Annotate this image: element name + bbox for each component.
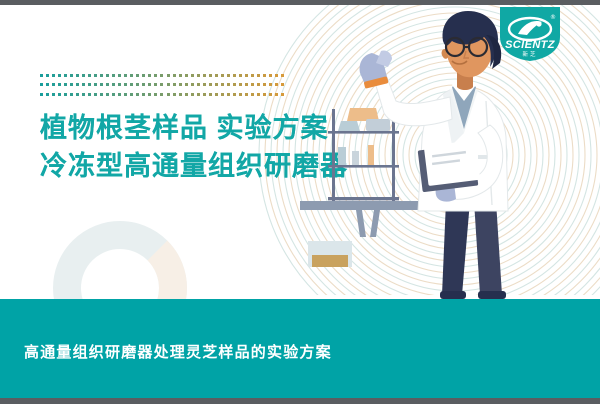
poster-slide: 植物根茎样品 实验方案 冷冻型高通量组织研磨器	[0, 0, 600, 404]
grid-dot	[257, 93, 260, 96]
grid-dot	[221, 74, 224, 77]
grid-dot	[197, 83, 200, 86]
grid-dot	[124, 83, 127, 86]
grid-dot	[233, 93, 236, 96]
grid-dot	[124, 74, 127, 77]
grid-dot	[88, 74, 91, 77]
grid-dot	[245, 83, 248, 86]
grid-dot	[94, 93, 97, 96]
grid-dot	[251, 74, 254, 77]
grid-dot	[88, 83, 91, 86]
grid-dot	[251, 83, 254, 86]
clipboard-icon	[418, 140, 481, 192]
grid-dot	[106, 93, 109, 96]
grid-dot	[76, 93, 79, 96]
grid-dot	[239, 74, 242, 77]
grid-dot	[203, 93, 206, 96]
logo-wordmark-cn: 新芝	[522, 50, 537, 58]
grid-dot	[197, 93, 200, 96]
grid-dot	[269, 83, 272, 86]
grid-dot	[82, 93, 85, 96]
grid-dot	[112, 83, 115, 86]
grid-dot	[148, 83, 151, 86]
grid-dot	[70, 74, 73, 77]
grid-dot	[64, 93, 67, 96]
grid-dot	[136, 93, 139, 96]
grid-dot	[281, 93, 284, 96]
grid-dot	[221, 93, 224, 96]
grid-dot	[160, 83, 163, 86]
grid-dot	[179, 83, 182, 86]
grid-dot	[263, 93, 266, 96]
grid-dot	[106, 74, 109, 77]
grid-dot	[88, 93, 91, 96]
grid-dot	[167, 93, 170, 96]
grid-dot	[52, 83, 55, 86]
grid-dot	[209, 74, 212, 77]
grid-dot	[130, 83, 133, 86]
grid-dot	[40, 93, 43, 96]
grid-dot	[173, 74, 176, 77]
scientist-figure	[360, 11, 508, 299]
grid-dot	[130, 93, 133, 96]
grid-dot	[100, 93, 103, 96]
grid-dot	[275, 74, 278, 77]
grid-dot	[136, 74, 139, 77]
grid-dot	[118, 83, 121, 86]
grid-dot	[64, 74, 67, 77]
bottom-chrome-bar	[0, 398, 600, 404]
grid-dot	[263, 74, 266, 77]
grid-dot	[136, 83, 139, 86]
grid-dot	[154, 83, 157, 86]
grid-dot	[215, 74, 218, 77]
grid-dot	[52, 93, 55, 96]
grid-dot	[112, 93, 115, 96]
grid-dot	[154, 74, 157, 77]
grid-dot	[148, 93, 151, 96]
grid-dot	[185, 74, 188, 77]
grid-dot	[154, 93, 157, 96]
grid-dot	[112, 74, 115, 77]
grid-dot	[281, 83, 284, 86]
grid-dot	[245, 74, 248, 77]
grid-dot	[76, 74, 79, 77]
grid-dot	[64, 83, 67, 86]
grid-dot	[275, 93, 278, 96]
grid-dot	[191, 74, 194, 77]
grid-dot	[100, 74, 103, 77]
grid-dot	[185, 83, 188, 86]
trademark-icon: ®	[550, 14, 556, 21]
grid-dot	[239, 83, 242, 86]
grid-dot	[160, 74, 163, 77]
grid-dot	[142, 83, 145, 86]
logo-wordmark: SCIENTZ	[505, 39, 556, 51]
grid-dot	[257, 74, 260, 77]
scientz-logo[interactable]: SCIENTZ 新芝 ®	[498, 7, 562, 61]
grid-dot	[257, 83, 260, 86]
grid-dot	[221, 83, 224, 86]
grid-dot	[245, 93, 248, 96]
grid-dot	[167, 83, 170, 86]
grid-dot	[106, 83, 109, 86]
grid-dot	[40, 74, 43, 77]
grid-dot	[160, 93, 163, 96]
grid-dot	[227, 74, 230, 77]
grid-dot	[215, 93, 218, 96]
poster-canvas: 植物根茎样品 实验方案 冷冻型高通量组织研磨器	[0, 5, 600, 398]
grid-dot	[209, 93, 212, 96]
grid-dot	[100, 83, 103, 86]
grid-dot	[173, 93, 176, 96]
grid-dot	[251, 93, 254, 96]
grid-dot	[167, 74, 170, 77]
grid-dot	[191, 83, 194, 86]
grid-dot	[203, 74, 206, 77]
caption-text: 高通量组织研磨器处理灵芝样品的实验方案	[24, 341, 332, 362]
grid-dot	[269, 74, 272, 77]
grid-dot	[76, 83, 79, 86]
grid-dot	[46, 93, 49, 96]
grid-dot	[227, 93, 230, 96]
grid-dot	[118, 74, 121, 77]
grid-dot	[227, 83, 230, 86]
grid-dot	[52, 74, 55, 77]
grid-dot	[70, 83, 73, 86]
grid-dot	[148, 74, 151, 77]
grid-dot	[191, 93, 194, 96]
grid-dot	[46, 74, 49, 77]
grid-dot	[185, 93, 188, 96]
grid-dot	[263, 83, 266, 86]
grid-dot	[58, 74, 61, 77]
grid-dot	[70, 93, 73, 96]
grid-dot	[82, 74, 85, 77]
grid-dot	[94, 74, 97, 77]
grid-dot	[94, 83, 97, 86]
grid-dot	[118, 93, 121, 96]
grid-dot	[40, 83, 43, 86]
grid-dot	[209, 83, 212, 86]
grid-dot	[142, 93, 145, 96]
grid-dot	[142, 74, 145, 77]
grid-dot	[58, 83, 61, 86]
lab-trolley-icon	[300, 108, 434, 267]
grid-dot	[130, 74, 133, 77]
grid-dot	[233, 83, 236, 86]
grid-dot	[197, 74, 200, 77]
grid-dot	[215, 83, 218, 86]
grid-dot	[173, 83, 176, 86]
grid-dot	[82, 83, 85, 86]
grid-dot	[275, 83, 278, 86]
grid-dot	[203, 83, 206, 86]
grid-dot	[179, 93, 182, 96]
grid-dot	[269, 93, 272, 96]
grid-dot	[281, 74, 284, 77]
grid-dot	[239, 93, 242, 96]
grid-dot	[124, 93, 127, 96]
grid-dot	[179, 74, 182, 77]
grid-dot	[58, 93, 61, 96]
grid-dot	[46, 83, 49, 86]
dot-grid-decoration	[40, 71, 287, 99]
grid-dot	[233, 74, 236, 77]
